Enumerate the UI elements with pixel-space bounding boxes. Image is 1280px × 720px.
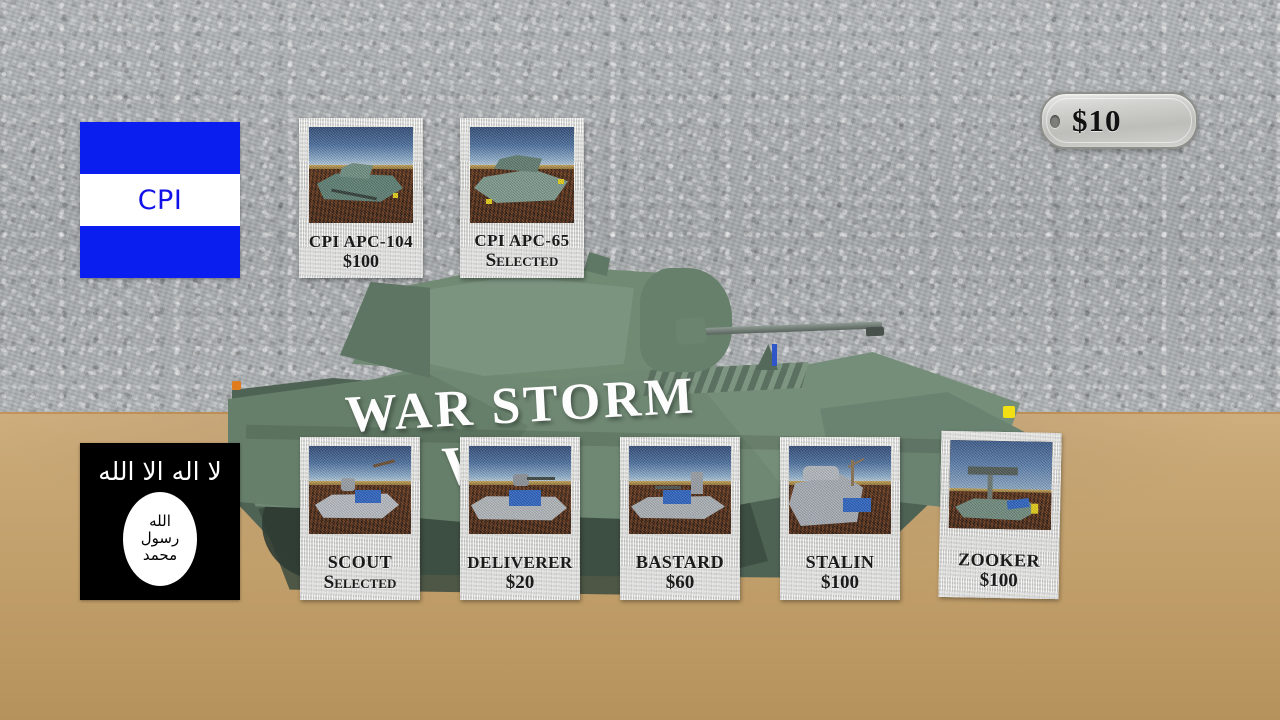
vehicle-card-scout[interactable]: SCOUT Selected [300, 437, 420, 600]
vehicle-thumbnail [470, 127, 574, 223]
flag-stripe-bottom [80, 226, 240, 278]
vehicle-card-name: ZOOKER [939, 550, 1059, 571]
game-screen: WAR STORM W CPI لا اله الا الله الله رسو… [0, 0, 1280, 720]
vehicle-thumbnail [309, 446, 411, 534]
faction-flag-cpi-label: CPI [138, 185, 183, 216]
thumb-noise-overlay [309, 127, 413, 223]
vehicle-card-status: Selected [460, 250, 584, 271]
vehicle-thumbnail [949, 440, 1053, 530]
vehicle-card-status: $60 [620, 572, 740, 593]
flag-seal-icon: الله رسول محمد [123, 492, 197, 586]
money-display: $10 [1040, 92, 1198, 149]
money-amount: $10 [1072, 103, 1122, 139]
vehicle-card-zooker[interactable]: ZOOKER $100 [938, 431, 1061, 599]
flag-seal-line-3: محمد [143, 548, 177, 564]
flag-stripe-top [80, 122, 240, 174]
thumb-noise-overlay [789, 446, 891, 534]
vehicle-card-status: $100 [299, 251, 423, 271]
card-text-block: DELIVERER $20 [460, 554, 580, 600]
vehicle-thumbnail [309, 127, 413, 223]
card-text-block: BASTARD $60 [620, 553, 740, 600]
flag-seal-line-1: الله [149, 514, 171, 530]
vehicle-card-bastard[interactable]: BASTARD $60 [620, 437, 740, 600]
vehicle-card-name: SCOUT [300, 553, 420, 572]
vehicle-card-name: STALIN [780, 553, 900, 572]
vehicle-card-cpi-apc-104[interactable]: CPI APC-104 $100 [299, 118, 423, 278]
card-text-block: ZOOKER $100 [938, 550, 1059, 599]
vehicle-card-status: $20 [460, 572, 580, 593]
vehicle-card-status: $100 [939, 569, 1059, 593]
card-text-block: CPI APC-104 $100 [299, 233, 423, 278]
vehicle-thumbnail [789, 446, 891, 534]
vehicle-thumbnail [469, 446, 571, 534]
vehicle-card-status: $100 [780, 572, 900, 593]
vehicle-card-name: CPI APC-104 [299, 233, 423, 251]
vehicle-card-deliverer[interactable]: DELIVERER $20 [460, 437, 580, 600]
card-text-block: SCOUT Selected [300, 553, 420, 600]
vehicle-card-cpi-apc-65[interactable]: CPI APC-65 Selected [460, 118, 584, 278]
thumb-noise-overlay [629, 446, 731, 534]
flag-seal-line-2: رسول [141, 531, 179, 547]
flag-stripe-middle: CPI [80, 174, 240, 226]
vehicle-card-status: Selected [300, 572, 420, 593]
faction-flag-black-banner[interactable]: لا اله الا الله الله رسول محمد [80, 443, 240, 600]
vehicle-thumbnail [629, 446, 731, 534]
thumb-noise-overlay [469, 446, 571, 534]
thumb-noise-overlay [470, 127, 574, 223]
vehicle-card-stalin[interactable]: STALIN $100 [780, 437, 900, 600]
faction-flag-cpi[interactable]: CPI [80, 122, 240, 278]
vehicle-card-name: BASTARD [620, 553, 740, 572]
thumb-noise-overlay [949, 440, 1053, 530]
card-text-block: STALIN $100 [780, 553, 900, 600]
flag-shahada-text: لا اله الا الله [98, 459, 222, 484]
thumb-noise-overlay [309, 446, 411, 534]
vehicle-card-name: DELIVERER [460, 554, 580, 572]
vehicle-card-name: CPI APC-65 [460, 232, 584, 250]
card-text-block: CPI APC-65 Selected [460, 232, 584, 278]
